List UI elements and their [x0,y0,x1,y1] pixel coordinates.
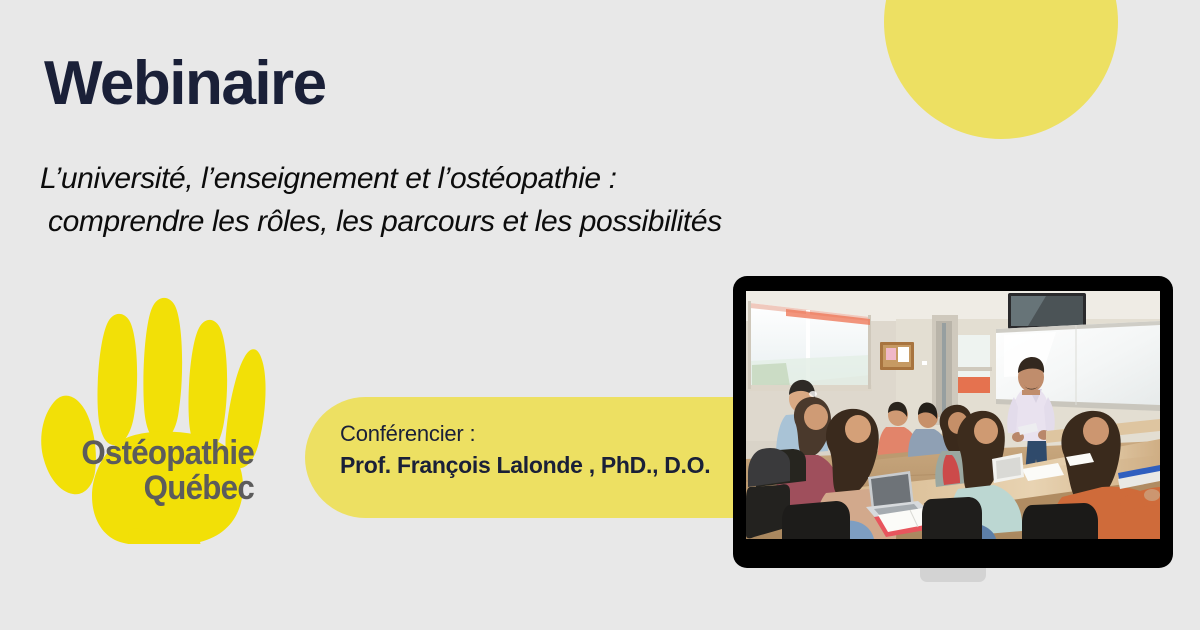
page-subtitle-line-2: comprendre les rôles, les parcours et le… [40,201,1050,244]
classroom-photo [746,291,1160,539]
chair-4 [1022,503,1098,539]
logo-wordmark: Ostéopathie Québec [61,436,254,507]
speaker-badge: Conférencier : Prof. François Lalonde , … [305,397,735,518]
page-subtitle-line-1: L’université, l’enseignement et l’ostéop… [40,158,1050,201]
speaker-name: Prof. François Lalonde , PhD., D.O. [340,451,735,481]
chair-3 [922,497,982,539]
speaker-role-label: Conférencier : [340,419,735,448]
circle-decoration [884,0,1118,139]
chair-2 [782,501,850,539]
logo-wordmark-line-1: Ostéopathie [61,436,254,471]
page-subtitle: L’université, l’enseignement et l’ostéop… [40,158,1050,243]
monitor-stand [920,568,986,582]
monitor-icon [733,276,1173,568]
logo-wordmark-line-2: Québec [61,471,254,506]
webinar-poster: Webinaire L’université, l’enseignement e… [0,0,1200,630]
page-title: Webinaire [44,53,326,115]
logo: Ostéopathie Québec [36,296,300,544]
